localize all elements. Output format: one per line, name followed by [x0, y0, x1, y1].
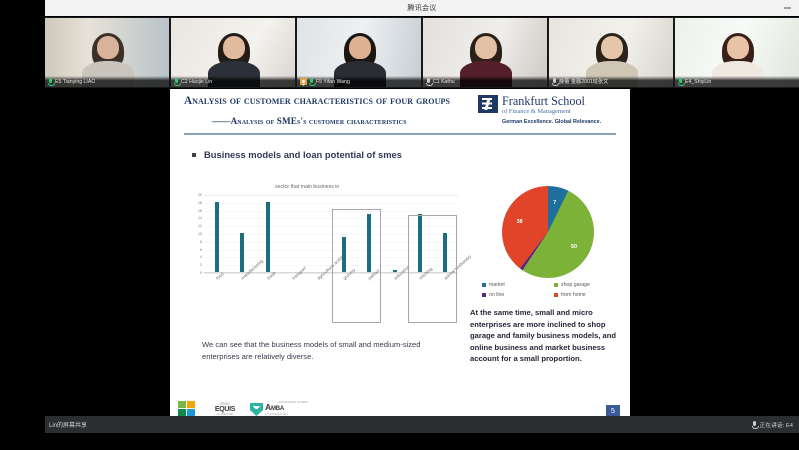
minimize-icon[interactable]: [784, 8, 791, 9]
frankfurt-school-logo: Frankfurt School of Finance & Management…: [478, 94, 618, 130]
amba-top-label: ASSOCIATION OF MBAs: [279, 401, 309, 404]
y-axis-tick-label: 2: [200, 263, 202, 267]
bottom-letterbox: [0, 433, 799, 450]
participant-video-strip: E5 Tianying LIAOC2 Haojie LinF5 Yifan Wa…: [45, 17, 799, 88]
mic-on-icon: [309, 78, 314, 85]
bar: [215, 202, 219, 272]
frankfurt-school-mark-icon: [478, 95, 498, 113]
shared-slide: Analysis of customer characteristics of …: [170, 89, 630, 424]
pie-chart-graphic: 75038: [502, 186, 594, 278]
legend-swatch: [482, 293, 486, 297]
participant-tile[interactable]: 薛蕾 金融2001班张文: [549, 18, 673, 87]
participant-name: C2 Haojie Lin: [181, 79, 212, 85]
bar-chart: sector that main business in 02468101214…: [180, 184, 470, 319]
slide-subtitle: ——Analysis of SMEs's customer characteri…: [212, 116, 512, 126]
participant-name: E4_ShiyLin: [685, 79, 711, 85]
pie-chart-legend: marketshop.garageon linefrom home: [482, 282, 622, 298]
legend-label: market: [489, 282, 505, 288]
slide-bullet-label: Business models and loan potential of sm…: [204, 149, 402, 160]
logo-tagline: German Excellence. Global Relevance.: [502, 119, 601, 125]
mic-on-icon: [174, 78, 179, 85]
legend-swatch: [482, 283, 486, 287]
title-divider: [184, 133, 616, 135]
participant-name: 薛蕾 金融2001班张文: [559, 78, 608, 85]
pie-legend-item: shop.garage: [554, 282, 622, 288]
bar-chart-title: sector that main business in: [275, 184, 339, 190]
gridline: [204, 211, 458, 212]
y-axis-tick-label: 16: [198, 209, 202, 213]
participant-name-bar: E5 Tianying LIAO: [45, 76, 169, 87]
y-axis-tick-label: 10: [198, 232, 202, 236]
gridline: [204, 203, 458, 204]
logo-subtitle: of Finance & Management: [502, 108, 571, 115]
y-axis-tick-label: 12: [198, 224, 202, 228]
pie-slice-value-label: 7: [553, 200, 556, 206]
participant-name-bar: C2 Haojie Lin: [171, 76, 295, 87]
mic-muted-icon[interactable]: [752, 421, 757, 429]
participant-name-bar: 薛蕾 金融2001班张文: [549, 76, 673, 87]
window-title: 腾讯会议: [407, 3, 436, 13]
legend-swatch: [554, 293, 558, 297]
slide-bullet: Business models and loan potential of sm…: [192, 149, 402, 160]
pie-chart: 75038 marketshop.garageon linefrom home: [472, 182, 622, 312]
participant-tile[interactable]: E4_ShiyLin: [675, 18, 799, 87]
participant-tile[interactable]: C1 Kathu: [423, 18, 547, 87]
y-axis-tick-label: 18: [198, 201, 202, 205]
meeting-window: 腾讯会议 E5 Tianying LIAOC2 Haojie LinF5 Yif…: [0, 0, 799, 450]
pie-legend-item: market: [482, 282, 550, 288]
legend-label: shop.garage: [561, 282, 590, 288]
y-axis-tick-label: 0: [200, 271, 202, 275]
square-bullet-icon: [192, 153, 196, 157]
participant-name: E5 Tianying LIAO: [55, 79, 95, 85]
legend-swatch: [554, 283, 558, 287]
pie-slice-value-label: 38: [517, 219, 523, 225]
y-axis-tick-label: 4: [200, 255, 202, 259]
participant-name: C1 Kathu: [433, 79, 455, 85]
slide-text-right: At the same time, small and micro enterp…: [470, 307, 622, 365]
bar-chart-plot: 02468101214161820foodmanufacturingtradet…: [204, 195, 458, 273]
y-axis-tick-label: 6: [200, 248, 202, 252]
participant-tile[interactable]: F5 Yifan Wang: [297, 18, 421, 87]
mic-muted-icon: [426, 78, 431, 85]
pie-legend-item: from home: [554, 292, 622, 298]
amba-shield-icon: [250, 403, 263, 416]
pie-slice-value-label: 50: [571, 244, 577, 250]
mic-on-icon: [678, 78, 683, 85]
y-axis-tick-label: 20: [198, 193, 202, 197]
bar: [266, 202, 270, 272]
slide-text-left: We can see that the business models of s…: [202, 339, 452, 363]
window-title-bar: 腾讯会议: [45, 0, 799, 16]
participant-name: F5 Yifan Wang: [316, 79, 350, 85]
amba-main-label: Amba: [265, 403, 288, 412]
host-badge-icon: [300, 78, 307, 85]
highlight-box: [408, 215, 457, 323]
slide-title: Analysis of customer characteristics of …: [184, 95, 494, 108]
speaking-status: 正在讲话: E4: [760, 420, 794, 429]
equis-main-label: EQUIS: [212, 406, 238, 413]
participant-name-bar: C1 Kathu: [423, 76, 547, 87]
logo-name: Frankfurt School: [502, 94, 585, 109]
gridline: [204, 195, 458, 196]
participant-name-bar: F5 Yifan Wang: [297, 76, 421, 87]
mic-on-icon: [48, 78, 53, 85]
left-letterbox: [0, 0, 45, 450]
bar: [240, 233, 244, 272]
screen-share-status: Lin的屏幕共享: [45, 420, 87, 429]
legend-label: on line: [489, 292, 504, 298]
participant-tile[interactable]: E5 Tianying LIAO: [45, 18, 169, 87]
participant-tile[interactable]: C2 Haojie Lin: [171, 18, 295, 87]
legend-label: from home: [561, 292, 586, 298]
mic-muted-icon: [552, 78, 557, 85]
y-axis-tick-label: 8: [200, 240, 202, 244]
bar: [393, 270, 397, 272]
meeting-bottom-bar: Lin的屏幕共享 正在讲话: E4: [45, 416, 799, 433]
participant-name-bar: E4_ShiyLin: [675, 76, 799, 87]
y-axis-tick-label: 14: [198, 216, 202, 220]
pie-legend-item: on line: [482, 292, 550, 298]
highlight-box: [332, 209, 381, 323]
